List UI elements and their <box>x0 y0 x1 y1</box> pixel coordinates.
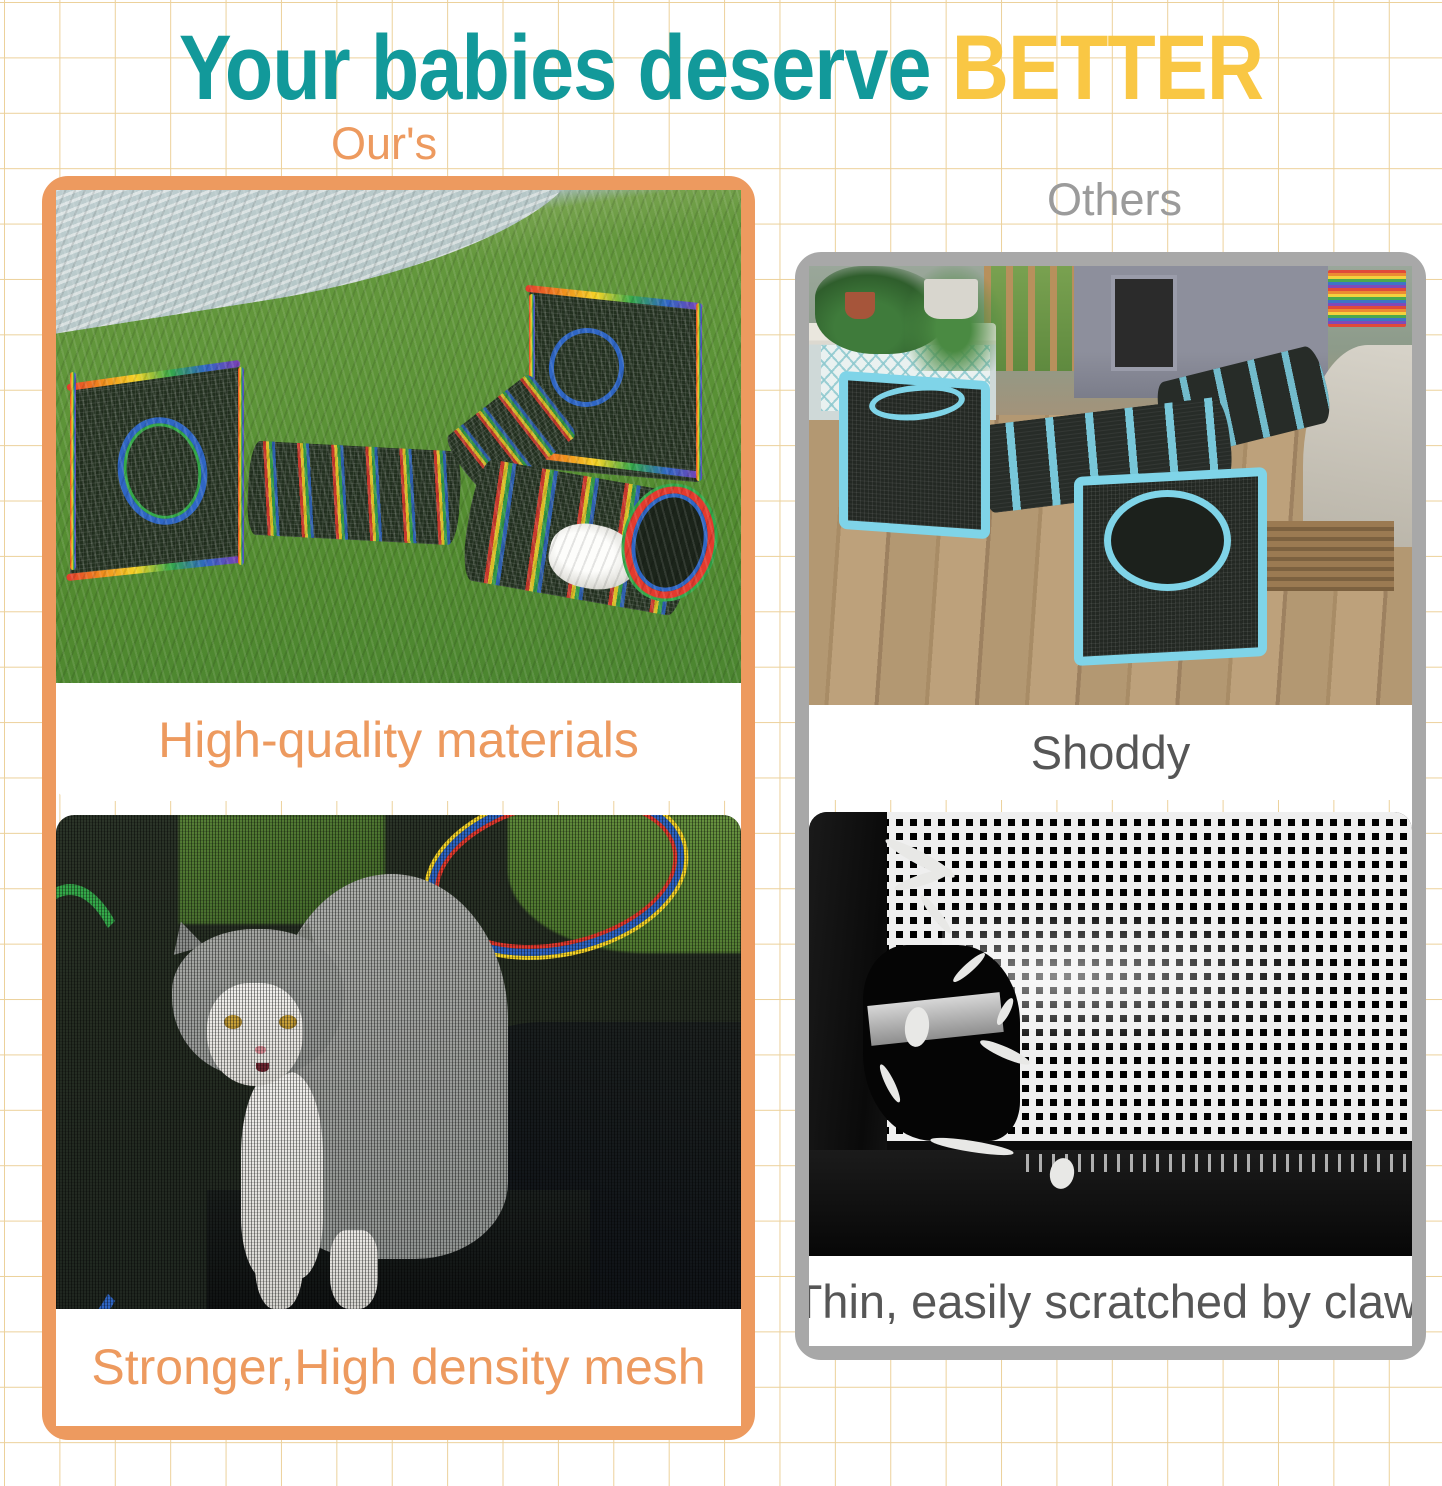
cat-face <box>207 983 303 1087</box>
rainbow-tunnel-rings <box>441 370 581 504</box>
caption-text: Stronger,High density mesh <box>91 1342 705 1392</box>
rainbow-trim-edge <box>525 284 703 310</box>
headline-part-primary: Your babies deserve <box>179 17 952 119</box>
stitch-line <box>1026 1154 1412 1172</box>
rainbow-mat <box>1328 270 1406 327</box>
infographic-page: Your babies deserve BETTER Our's Others <box>0 0 1442 1486</box>
cat-chest <box>241 1072 323 1279</box>
white-cat-in-tunnel <box>543 517 643 598</box>
mesh-cube-right-porthole <box>544 323 630 412</box>
cat-leg <box>330 1230 378 1309</box>
rainbow-tunnel-rings <box>245 441 462 546</box>
terracotta-pot <box>845 292 875 318</box>
mesh-cube-left <box>70 367 241 580</box>
wooden-pallet <box>1261 521 1394 591</box>
column-label-others: Others <box>1047 177 1182 222</box>
cat-eye-right <box>279 1015 297 1029</box>
caption-text: Thin, easily scratched by claws <box>809 1278 1412 1325</box>
card-ours-quality: High-quality materials <box>56 190 741 801</box>
blue-trim-arc <box>56 884 152 1309</box>
card-ours-mesh: Stronger,High density mesh <box>56 815 741 1426</box>
cyan-cube-opening <box>1104 490 1231 591</box>
panel-others: Shoddy <box>795 252 1426 1360</box>
mesh-tunnel-diagonal <box>441 370 581 504</box>
mesh-tunnel-foreground <box>458 457 702 618</box>
photo-rainbow-playpen-on-grass <box>56 190 741 683</box>
rainbow-trim-edge <box>696 303 702 480</box>
caption-text: Shoddy <box>1031 729 1190 776</box>
mesh-cube-left-porthole <box>109 410 216 532</box>
caption-bar-others-shoddy: Shoddy <box>809 705 1412 800</box>
caption-bar-others-thin-mesh: Thin, easily scratched by claws <box>809 1256 1412 1346</box>
rainbow-trim-edge <box>238 367 244 564</box>
coop-door <box>1111 275 1177 372</box>
cat-eye-left <box>224 1015 242 1029</box>
tunnel-opening <box>614 478 725 607</box>
rainbow-tunnel-rings <box>458 457 702 618</box>
photo-torn-mesh-closeup <box>809 812 1412 1256</box>
caption-bar-ours-mesh: Stronger,High density mesh <box>56 1309 741 1426</box>
caption-text: High-quality materials <box>158 715 639 765</box>
card-others-thin-mesh: Thin, easily scratched by claws <box>809 812 1412 1346</box>
caption-bar-ours-quality: High-quality materials <box>56 683 741 797</box>
page-title: Your babies deserve BETTER <box>101 22 1341 114</box>
rainbow-trim-edge <box>529 294 535 476</box>
card-others-shoddy: Shoddy <box>809 266 1412 800</box>
rainbow-trim-edge <box>70 372 76 569</box>
headline-part-emphasis: BETTER <box>952 17 1263 119</box>
mesh-cube-right <box>529 291 700 483</box>
photo-cyan-playpen-on-deck <box>809 266 1412 705</box>
photo-cat-behind-dense-mesh <box>56 815 741 1309</box>
panel-ours: High-quality materials <box>42 176 755 1440</box>
mesh-cube-left-porthole <box>109 410 216 532</box>
column-label-ours: Our's <box>331 121 437 166</box>
cat-nose <box>255 1046 266 1054</box>
rainbow-trim-edge <box>66 556 240 581</box>
mesh-tunnel-middle <box>245 441 462 546</box>
rainbow-trim-edge <box>67 360 241 391</box>
cat-mouth <box>256 1063 269 1072</box>
white-pot <box>924 279 978 319</box>
rainbow-trim-edge <box>525 450 703 479</box>
